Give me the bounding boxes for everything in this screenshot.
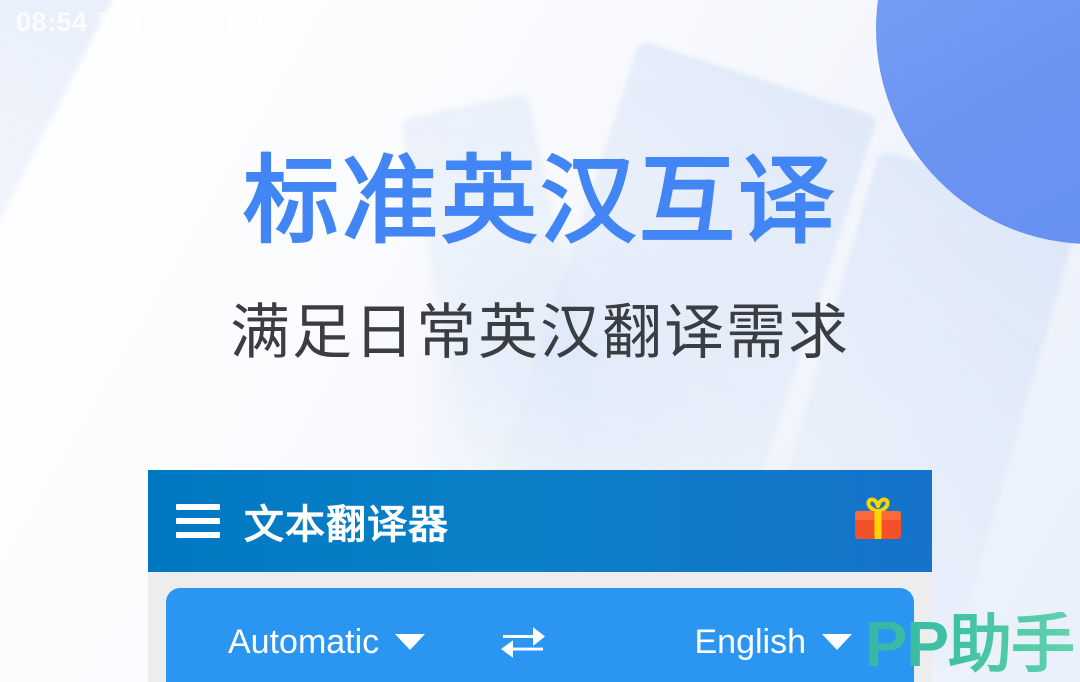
app-bar-title: 文本翻译器 [244,492,449,550]
status-bar: 08:54 3G HD2 [0,0,1080,44]
page-subtitle: 满足日常英汉翻译需求 [0,300,1080,366]
language-selector-bar: Automatic English [166,588,914,682]
network-type-label: 3G [98,9,114,23]
hamburger-menu-icon[interactable] [176,504,220,538]
language-bar-container: Automatic English [148,572,932,682]
app-screenshot-mock: 文本翻译器 Automatic [148,470,932,682]
target-language-selector[interactable]: English [694,623,852,662]
pp-assistant-watermark: PP助手 [865,612,1074,676]
signal-bars-icon-secondary [151,9,177,35]
signal-bars-icon: 3G [98,9,141,35]
target-language-label: English [694,623,806,662]
swap-arrows-icon[interactable] [499,624,547,660]
app-bar: 文本翻译器 [148,470,932,572]
source-language-label: Automatic [228,623,379,662]
wifi-icon [187,10,217,34]
hd-voice-icon: HD2 [227,9,276,35]
screenshot-root: 08:54 3G HD2 标准英汉互译 满足日常英汉翻译需求 文本翻译器 [0,0,1080,682]
chevron-down-icon-target [822,634,852,650]
source-language-selector[interactable]: Automatic [228,623,425,662]
gift-icon[interactable] [850,494,906,548]
page-title: 标准英汉互译 [0,152,1080,253]
status-bar-time: 08:54 [16,9,88,36]
chevron-down-icon-source [395,634,425,650]
